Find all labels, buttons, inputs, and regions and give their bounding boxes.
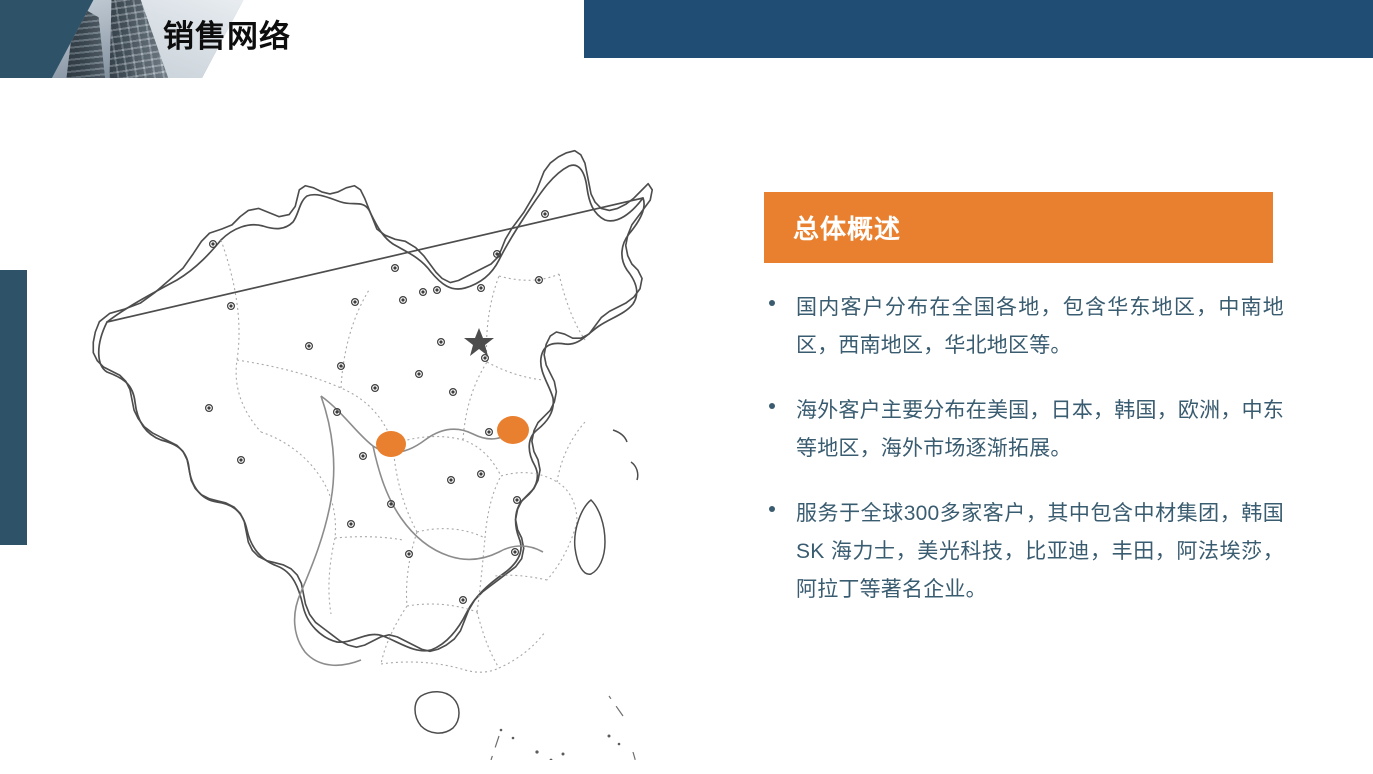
south-sea-dash-line	[491, 696, 643, 760]
bullet-dot-icon	[769, 403, 775, 409]
panel-bullet-list: 国内客户分布在全国各地，包含华东地区，中南地区，西南地区，华北地区等。 海外客户…	[764, 289, 1284, 636]
list-item: 海外客户主要分布在美国，日本，韩国，欧洲，中东等地区，海外市场逐渐拓展。	[764, 392, 1284, 468]
slide-root: 销售网络	[0, 0, 1373, 774]
island-dots	[500, 729, 621, 760]
bullet-dot-icon	[769, 506, 775, 512]
panel-header: 总体概述	[764, 192, 1273, 263]
bullet-dot-icon	[769, 300, 775, 306]
left-accent-bar	[0, 270, 27, 545]
slant-stripe-icon	[0, 0, 123, 78]
bullet-text: 海外客户主要分布在美国，日本，韩国，欧洲，中东等地区，海外市场逐渐拓展。	[796, 392, 1284, 468]
city-markers	[206, 211, 549, 604]
highlight-marker-shanghai[interactable]	[497, 416, 529, 444]
header-accent-bar	[584, 0, 1373, 58]
bullet-text: 国内客户分布在全国各地，包含华东地区，中南地区，西南地区，华北地区等。	[796, 289, 1284, 365]
list-item: 国内客户分布在全国各地，包含华东地区，中南地区，西南地区，华北地区等。	[764, 289, 1284, 365]
china-map-svg	[85, 140, 665, 760]
map-border-detail	[99, 165, 644, 651]
page-title: 销售网络	[163, 15, 291, 59]
china-map	[85, 140, 665, 760]
building-secondary-icon	[45, 2, 111, 78]
island-outlines	[415, 430, 638, 733]
bullet-text: 服务于全球300多家客户，其中包含中材集团，韩国SK 海力士，美光科技，比亚迪，…	[796, 495, 1284, 609]
panel-title: 总体概述	[793, 209, 901, 246]
map-national-outline	[93, 151, 652, 652]
list-item: 服务于全球300多家客户，其中包含中材集团，韩国SK 海力士，美光科技，比亚迪，…	[764, 495, 1284, 609]
capital-star-icon	[464, 328, 494, 356]
highlight-marker-chongqing[interactable]	[376, 431, 406, 457]
